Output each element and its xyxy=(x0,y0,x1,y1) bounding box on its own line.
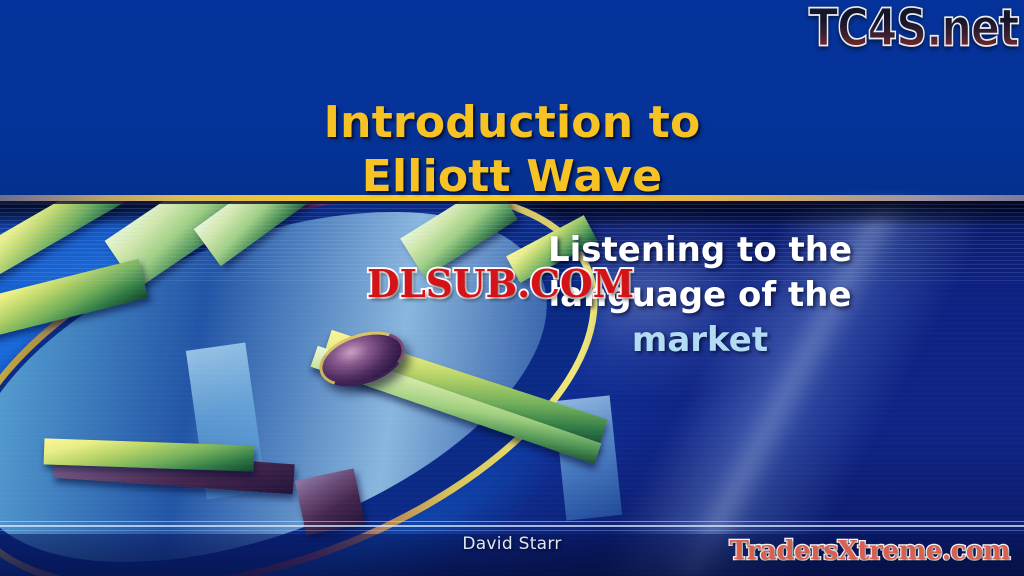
presentation-slide: Introduction to Elliott Wave Listening t… xyxy=(0,0,1024,576)
watermark-tc4s: TC4S.net xyxy=(809,0,1018,58)
slide-title-line-1: Introduction to xyxy=(0,96,1024,150)
watermark-tradersxtreme: TradersXtreme.com xyxy=(730,536,1010,566)
slide-title: Introduction to Elliott Wave xyxy=(0,96,1024,204)
slide-title-line-2: Elliott Wave xyxy=(0,150,1024,204)
bottom-scanline-band xyxy=(0,518,1024,534)
slide-subtitle-highlight: market xyxy=(500,318,900,363)
watermark-dlsub: DLSUB.COM xyxy=(367,262,634,307)
author-name: David Starr xyxy=(372,534,652,554)
